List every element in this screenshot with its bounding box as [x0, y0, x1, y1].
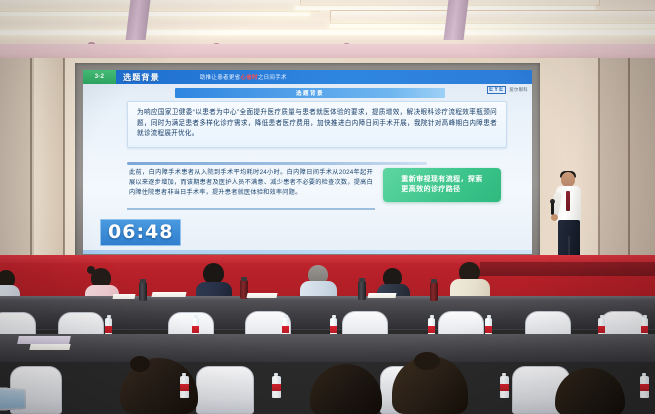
document-papers [29, 344, 70, 350]
subtitle-highlight: 心省时 [240, 75, 257, 81]
bottle-label [500, 384, 509, 391]
wall-seam [63, 58, 65, 263]
document-papers [112, 294, 135, 299]
document-papers [246, 293, 277, 298]
thermos-flask [139, 282, 147, 301]
bottle-label [272, 384, 281, 391]
countdown-timer: 06:48 [100, 219, 181, 246]
wall-seam [30, 58, 32, 263]
document-papers [17, 336, 71, 344]
wall-seam [598, 58, 600, 263]
slide-divider [127, 162, 427, 165]
chair [196, 366, 254, 414]
laptop-screen [0, 389, 24, 409]
presenter-hand [551, 214, 558, 221]
bottle-label [598, 326, 605, 333]
document-papers [151, 292, 186, 297]
subtitle-prefix: 助推让患者更省 [200, 75, 241, 81]
bottle-label [485, 326, 492, 333]
callout-text: 重新审视现有流程，探索更高效的诊疗路径 [401, 175, 482, 196]
presentation-screen-bezel: 3-2 选题背景 助推让患者更省心省时之日间手术 EYE 爱尔眼科 选题背景 为… [75, 63, 540, 261]
bottle-label [180, 384, 189, 391]
bottle-label [641, 326, 648, 333]
attendee-hair-knot [414, 352, 440, 370]
attendee-hair-knot [130, 356, 150, 372]
logo-text: 爱尔眼科 [509, 87, 528, 93]
bottle-label [282, 326, 289, 333]
table-surface [0, 296, 655, 300]
presenter-head [561, 172, 575, 187]
slide-title: 选题背景 [123, 72, 160, 83]
slide-paragraph-secondary: 此前，白内障手术患者从入院到手术平均耗时24小时。白内障日间手术从2024年起开… [129, 168, 373, 198]
slide-section-tab: 选题背景 [175, 88, 445, 98]
subtitle-suffix: 之日间手术 [258, 75, 287, 81]
laptop-device [0, 387, 26, 412]
ceiling-panel [0, 0, 320, 12]
water-bottle [272, 376, 281, 398]
wall-pillar [34, 58, 64, 263]
water-bottle [180, 376, 189, 398]
audience-table-mid [0, 334, 655, 362]
section-tab-label: 选题背景 [296, 89, 324, 97]
wall-left-panel [0, 58, 34, 263]
stage-step-edge [480, 262, 655, 276]
thermos-flask [358, 281, 366, 300]
bottle-label [105, 326, 112, 333]
wall-seam [628, 58, 630, 263]
timer-value: 06:48 [108, 221, 173, 243]
ceiling [0, 0, 655, 48]
presenter [549, 172, 591, 268]
bottle-label [192, 326, 199, 333]
presenter-tie [566, 191, 570, 211]
brand-logo: EYE 爱尔眼科 [487, 86, 528, 94]
water-bottle [640, 376, 649, 398]
slide-secondary-underline [127, 208, 375, 210]
slide-subtitle: 助推让患者更省心省时之日间手术 [200, 73, 287, 81]
ceiling-panel [330, 10, 655, 24]
ceiling-cove-light [0, 30, 655, 35]
logo-mark: EYE [487, 86, 506, 94]
bottle-label [640, 384, 649, 391]
water-bottle [500, 376, 509, 398]
thermos-flask [430, 282, 438, 301]
slide-titlebar: 选题背景 助推让患者更省心省时之日间手术 [116, 70, 532, 84]
slide-paragraph-main: 为响应国家卫健委“以患者为中心”全面提升医疗质量与患者就医体验的要求，提质增效，… [137, 108, 497, 140]
bottle-label [428, 326, 435, 333]
attendee-front-head [310, 364, 382, 414]
slide-footer-accent [83, 250, 532, 254]
ceiling-cove-light [330, 24, 655, 28]
presentation-slide[interactable]: 3-2 选题背景 助推让患者更省心省时之日间手术 EYE 爱尔眼科 选题背景 为… [83, 70, 532, 254]
conference-hall-photo: 3-2 选题背景 助推让患者更省心省时之日间手术 EYE 爱尔眼科 选题背景 为… [0, 0, 655, 414]
slide-header: 3-2 选题背景 助推让患者更省心省时之日间手术 [83, 70, 532, 84]
slide-main-textbox: 为响应国家卫健委“以患者为中心”全面提升医疗质量与患者就医体验的要求，提质增效，… [127, 101, 507, 148]
slide-secondary-textbox: 此前，白内障手术患者从入院到手术平均耗时24小时。白内障日间手术从2024年起开… [127, 168, 375, 198]
ceiling-cove-light [0, 12, 310, 16]
slide-section-badge: 3-2 [83, 70, 116, 84]
document-papers [367, 293, 396, 298]
slide-callout-box: 重新审视现有流程，探索更高效的诊疗路径 [383, 168, 501, 202]
bottle-label [330, 326, 337, 333]
